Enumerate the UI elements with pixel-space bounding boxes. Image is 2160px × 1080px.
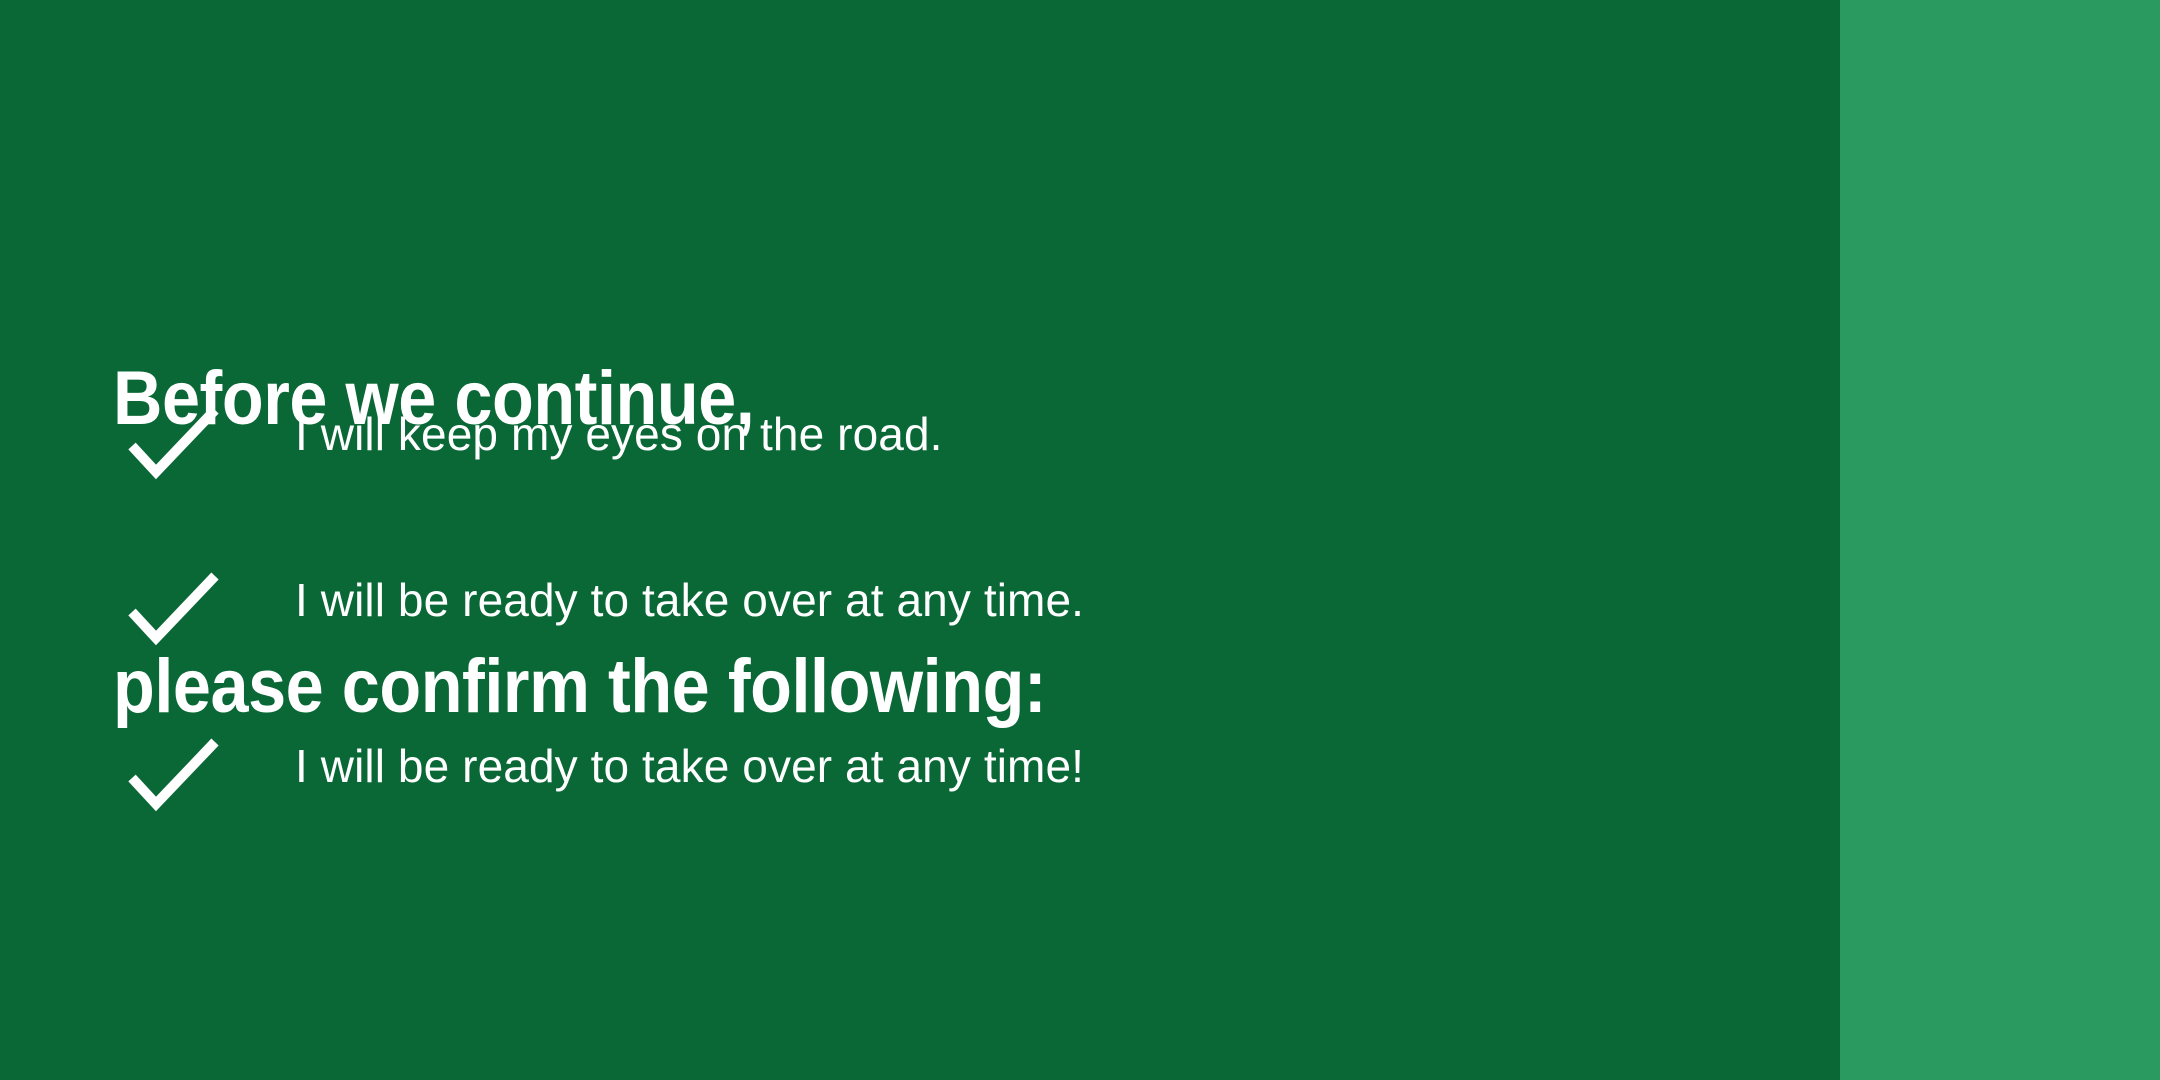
check-icon — [123, 736, 223, 816]
list-item-label: I will be ready to take over at any time… — [295, 730, 1084, 802]
confirmation-list: I will keep my eyes on the road. I will … — [113, 398, 1713, 896]
check-icon — [123, 404, 223, 484]
check-icon — [123, 570, 223, 650]
confirmation-screen: Before we continue, please confirm the f… — [0, 0, 2160, 1080]
list-item-label: I will keep my eyes on the road. — [295, 398, 943, 470]
list-item-label: I will be ready to take over at any time… — [295, 564, 1084, 636]
list-item[interactable]: I will be ready to take over at any time… — [113, 564, 1713, 730]
list-item[interactable]: I will be ready to take over at any time… — [113, 730, 1713, 896]
list-item[interactable]: I will keep my eyes on the road. — [113, 398, 1713, 564]
next-panel[interactable] — [1840, 0, 2160, 1080]
